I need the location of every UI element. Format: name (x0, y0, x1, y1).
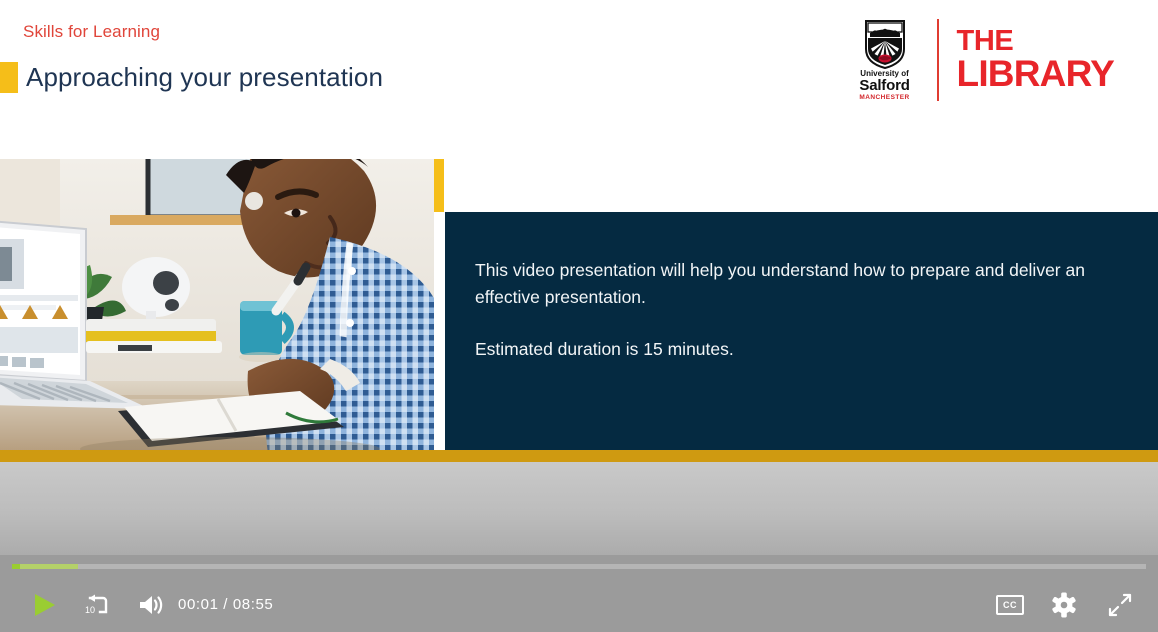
brand-eyebrow: Skills for Learning (23, 22, 160, 42)
page-title: Approaching your presentation (26, 62, 383, 93)
gear-icon (1051, 592, 1077, 618)
video-letterbox-upper (0, 462, 1158, 570)
title-accent-square (0, 62, 18, 93)
player-control-bar: 10 00:01 / 08:55 CC (0, 555, 1158, 632)
slide-paragraph-2: Estimated duration is 15 minutes. (475, 336, 1115, 363)
cc-icon: CC (996, 595, 1024, 615)
page-header: Skills for Learning Approaching your pre… (0, 0, 1158, 150)
progress-handle[interactable] (12, 564, 20, 569)
salford-crest: University of Salford MANCHESTER (849, 19, 921, 102)
play-button[interactable] (26, 577, 64, 632)
photo-gold-strip (434, 159, 444, 212)
slide-paragraph-1: This video presentation will help you un… (475, 260, 1085, 307)
video-slide: This video presentation will help you un… (0, 150, 1158, 462)
library-wordmark: THE LIBRARY (957, 28, 1114, 91)
wordmark-library: LIBRARY (957, 56, 1114, 92)
slide-description: This video presentation will help you un… (475, 257, 1115, 363)
svg-text:10: 10 (85, 605, 95, 615)
wordmark-the: THE (957, 28, 1114, 56)
play-icon (35, 594, 55, 616)
logo-divider (937, 19, 939, 101)
slide-photo (0, 159, 434, 454)
progress-scrubber[interactable] (12, 564, 1146, 569)
crest-shield-icon (858, 19, 912, 69)
university-library-logo: University of Salford MANCHESTER THE LIB… (849, 16, 1114, 104)
crest-manchester-label: MANCHESTER (859, 94, 909, 102)
captions-button[interactable]: CC (990, 577, 1030, 632)
rewind-10-icon: 10 (84, 593, 110, 617)
slide-gold-bar (0, 450, 1158, 462)
settings-button[interactable] (1044, 577, 1084, 632)
fullscreen-button[interactable] (1100, 577, 1140, 632)
volume-icon (138, 593, 166, 617)
slide-info-panel: This video presentation will help you un… (445, 212, 1158, 450)
rewind-10-button[interactable]: 10 (76, 577, 118, 632)
volume-button[interactable] (131, 577, 173, 632)
crest-salford-label: Salford (859, 78, 909, 94)
control-row: 10 00:01 / 08:55 CC (0, 577, 1158, 632)
video-player-page: Skills for Learning Approaching your pre… (0, 0, 1158, 632)
desk-scene-illustration (0, 159, 434, 454)
time-display: 00:01 / 08:55 (178, 577, 273, 632)
progress-fill (12, 564, 78, 569)
fullscreen-expand-icon (1108, 593, 1132, 617)
